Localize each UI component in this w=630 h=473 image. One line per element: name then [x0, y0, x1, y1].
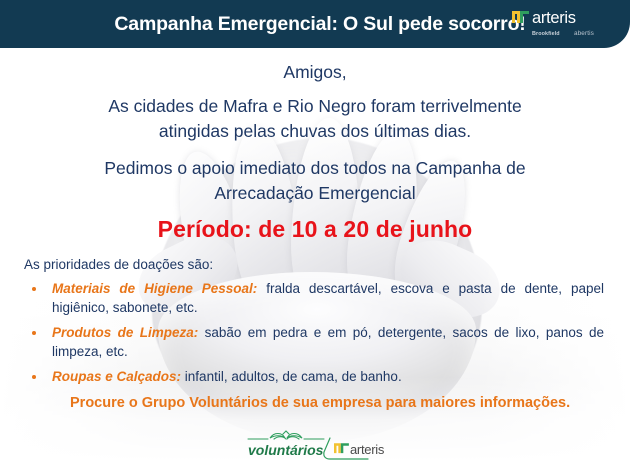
svg-text:abertis: abertis — [574, 30, 594, 37]
donations-section: As prioridades de doações são: Materiais… — [0, 256, 630, 413]
donation-category-label: Roupas e Calçados: — [52, 369, 181, 384]
svg-text:Brookfield: Brookfield — [532, 31, 560, 37]
arteris-wordmark: arteris — [350, 442, 385, 457]
voluntarios-wordmark: voluntários — [248, 442, 324, 458]
call-to-action-text: Procure o Grupo Voluntários de sua empre… — [24, 394, 612, 413]
list-item: Produtos de Limpeza: sabão em pedra e em… — [24, 324, 612, 361]
arteris-mark-icon — [334, 443, 349, 453]
bullet-dot-icon — [32, 375, 36, 379]
greeting-line: Amigos, — [36, 60, 594, 85]
intro-block: Amigos, As cidades de Mafra e Rio Negro … — [0, 60, 630, 206]
arteris-logo: arteris Brookfield abertis — [510, 7, 614, 41]
paragraph-2-line-1: Pedimos o apoio imediato dos todos na Ca… — [36, 156, 594, 181]
period-headline: Período: de 10 a 20 de junho — [0, 216, 630, 243]
donation-category-items: infantil, adultos, de cama, de banho. — [181, 369, 402, 384]
voluntarios-arteris-logo: voluntários arteris — [0, 429, 630, 465]
paragraph-1-line-1: As cidades de Mafra e Rio Negro foram te… — [36, 94, 594, 119]
donations-list: Materiais de Higiene Pessoal: fralda des… — [24, 280, 612, 387]
campaign-slide: Campanha Emergencial: O Sul pede socorro… — [0, 0, 630, 473]
paragraph-1-line-2: atingidas pelas chuvas dos últimas dias. — [36, 119, 594, 144]
list-item: Materiais de Higiene Pessoal: fralda des… — [24, 280, 612, 317]
bullet-dot-icon — [32, 287, 36, 291]
donations-lead: As prioridades de doações são: — [24, 256, 612, 274]
paragraph-2-line-2: Arrecadação Emergencial — [36, 181, 594, 206]
bullet-dot-icon — [32, 331, 36, 335]
hands-flourish-icon — [270, 431, 302, 439]
svg-text:arteris: arteris — [532, 9, 576, 27]
slide-content: Amigos, As cidades de Mafra e Rio Negro … — [0, 48, 630, 413]
donation-category-label: Materiais de Higiene Pessoal: — [52, 281, 257, 296]
list-item: Roupas e Calçados: infantil, adultos, de… — [24, 368, 612, 387]
donation-category-label: Produtos de Limpeza: — [52, 325, 198, 340]
header-banner: Campanha Emergencial: O Sul pede socorro… — [0, 0, 630, 48]
arteris-mark-icon — [512, 11, 529, 23]
